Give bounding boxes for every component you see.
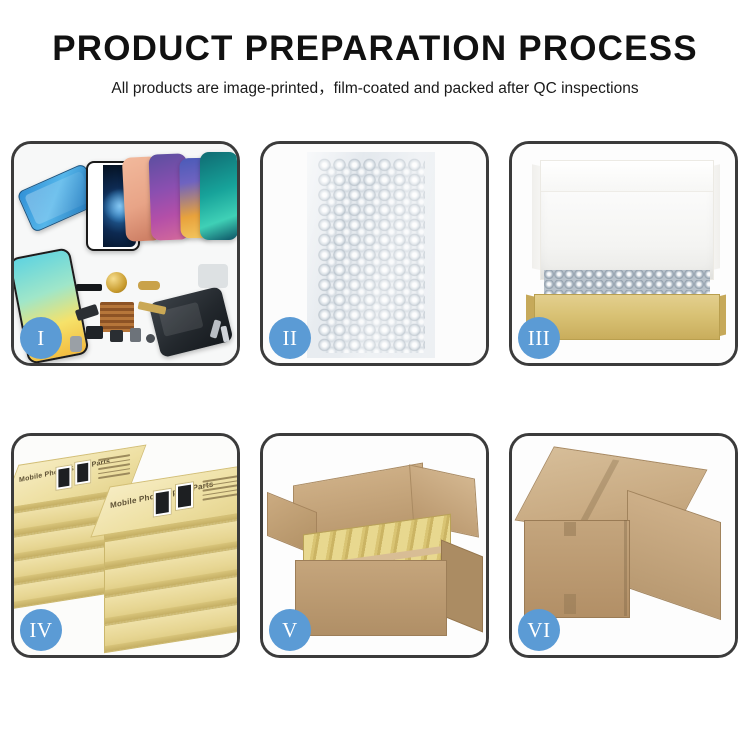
carton-front-panel bbox=[295, 560, 447, 636]
part-module-b bbox=[110, 330, 123, 342]
thumb-screen bbox=[178, 485, 191, 508]
process-step-card-2: II bbox=[260, 141, 489, 366]
sealed-carton-front-panel bbox=[524, 520, 630, 618]
box-spec-lines bbox=[98, 454, 130, 482]
part-speaker bbox=[130, 328, 141, 342]
process-step-card-5: V bbox=[260, 433, 489, 658]
process-step-grid: I II III bbox=[11, 141, 739, 658]
page-title: PRODUCT PREPARATION PROCESS bbox=[0, 28, 750, 70]
process-step-card-6: VI bbox=[509, 433, 738, 658]
part-module-a bbox=[86, 326, 103, 339]
box-product-thumb-2 bbox=[175, 481, 194, 511]
thumb-screen bbox=[58, 468, 69, 488]
part-gold-coil bbox=[106, 272, 127, 293]
sealed-carton-vertical-seam bbox=[624, 520, 627, 616]
thumb-screen bbox=[77, 463, 88, 483]
page-header: PRODUCT PREPARATION PROCESS All products… bbox=[0, 0, 750, 99]
part-film-sheet bbox=[198, 264, 228, 288]
part-battery-strip bbox=[76, 284, 102, 291]
bubble-wrap-pouch bbox=[307, 152, 435, 358]
process-step-card-4: Mobile Phone Spare Parts Mobile Phone Sp… bbox=[11, 433, 240, 658]
box-product-thumb-1 bbox=[153, 488, 172, 518]
step-badge-5: V bbox=[269, 609, 311, 651]
box-lid-white bbox=[540, 160, 714, 280]
step-badge-4: IV bbox=[20, 609, 62, 651]
part-camera bbox=[70, 336, 82, 352]
phone-teal bbox=[200, 152, 237, 240]
step-badge-1: I bbox=[20, 317, 62, 359]
box-spec-lines bbox=[203, 475, 237, 504]
carton-tape-mark-bottom bbox=[564, 594, 576, 614]
step-badge-2: II bbox=[269, 317, 311, 359]
part-gold-connector bbox=[138, 281, 160, 290]
process-step-card-1: I bbox=[11, 141, 240, 366]
process-step-card-3: III bbox=[509, 141, 738, 366]
part-button bbox=[146, 334, 155, 343]
box-edge bbox=[105, 624, 237, 652]
part-copper-mesh bbox=[100, 302, 134, 332]
thumb-screen bbox=[156, 491, 169, 514]
page-subtitle: All products are image-printed，film-coat… bbox=[0, 79, 750, 99]
box-base-kraft bbox=[534, 294, 720, 340]
box-product-thumb-2 bbox=[74, 459, 91, 486]
pouch-sheen bbox=[307, 152, 435, 358]
step-badge-3: III bbox=[518, 317, 560, 359]
box-product-thumb-1 bbox=[55, 464, 72, 491]
carton-tape-mark-top bbox=[564, 522, 576, 536]
step-badge-6: VI bbox=[518, 609, 560, 651]
